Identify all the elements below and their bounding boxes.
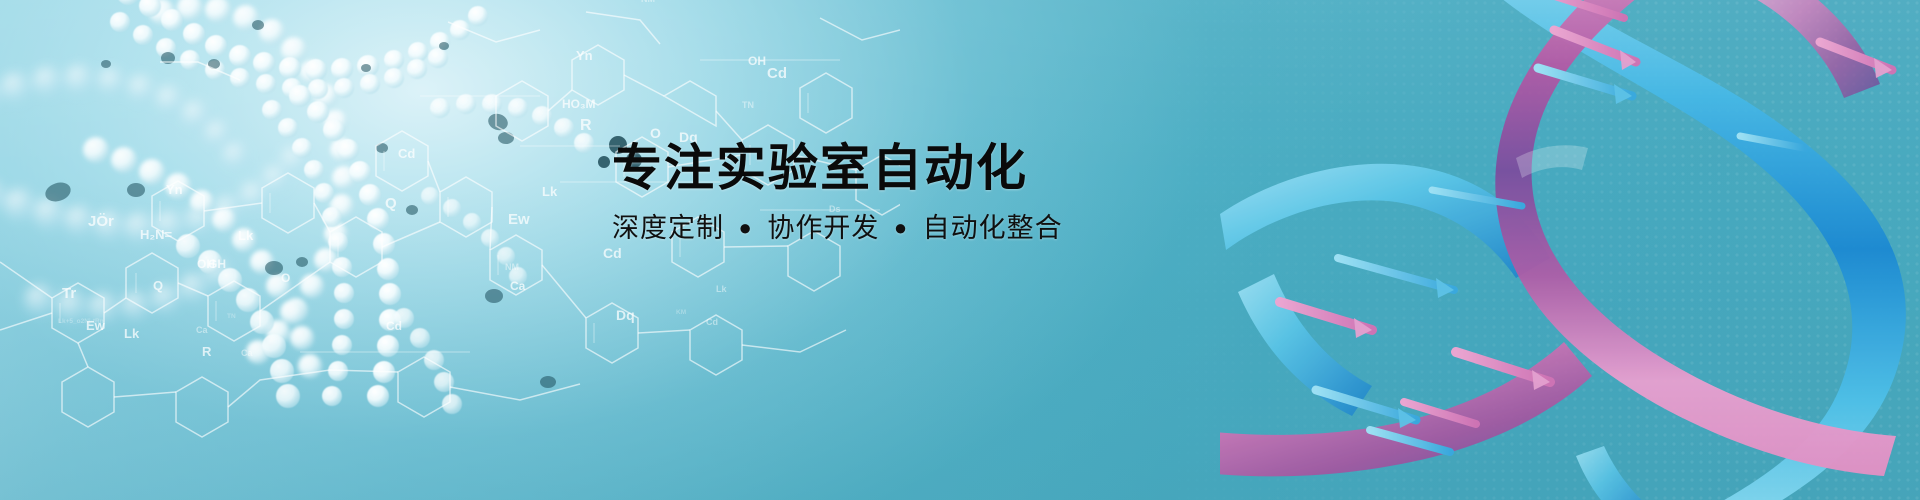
chem-label: OH: [197, 257, 215, 271]
chem-label: Cd: [603, 245, 622, 261]
chem-label: O: [281, 271, 290, 285]
chem-label: OH: [748, 54, 766, 68]
chem-label: Lk: [716, 284, 727, 294]
chem-label: Dq: [616, 307, 635, 323]
chem-label: Lk: [542, 184, 558, 199]
chem-label: NM: [505, 262, 519, 272]
chem-label: H₂N=: [140, 227, 173, 242]
chem-label: Lk+5_o2Nj-tRn: [58, 318, 104, 325]
subtitle-part-2: 协作开发: [767, 213, 879, 243]
chem-label: JÖr: [88, 213, 114, 230]
chem-label: HO₃M: [562, 97, 596, 111]
chemical-structure-overlay: TrLkLkJÖrH₂N=QGHCaEwCaYnYnCdCdCdCdCdCaCd…: [0, 0, 900, 500]
chem-label: Cd: [398, 146, 415, 161]
chem-label: Yn: [576, 48, 593, 63]
chem-label: R: [202, 344, 212, 359]
chem-label: Ca: [510, 279, 526, 293]
banner-headline: 专注实验室自动化: [612, 140, 1252, 196]
chem-label: Yn: [166, 182, 183, 197]
bullet-separator-icon: ●: [733, 215, 759, 240]
chem-label: Ca: [241, 348, 253, 358]
chem-label: TN: [227, 313, 236, 320]
chem-label: Cd: [767, 65, 787, 82]
chem-label: Ca: [196, 325, 208, 335]
banner-subtitle: 深度定制 ● 协作开发 ● 自动化整合: [612, 212, 1252, 244]
chem-label: O: [650, 125, 661, 141]
chem-label: Cd: [386, 319, 402, 333]
chem-label: R: [580, 117, 592, 134]
chem-label: TN: [742, 100, 754, 110]
banner-text-block: 专注实验室自动化 深度定制 ● 协作开发 ● 自动化整合: [612, 140, 1252, 244]
chem-label: Lk: [238, 228, 254, 243]
chem-label: Ew: [508, 211, 530, 228]
chem-label: NM: [641, 0, 655, 4]
chem-label: Lk: [124, 326, 140, 341]
chem-label: Q: [385, 195, 397, 212]
ribbon-dna-helix-art: [1220, 0, 1920, 500]
subtitle-part-3: 自动化整合: [923, 213, 1063, 243]
bullet-separator-icon-2: ●: [888, 215, 914, 240]
hero-banner: TrLkLkJÖrH₂N=QGHCaEwCaYnYnCdCdCdCdCdCaCd…: [0, 0, 1920, 500]
chem-label: Tr: [62, 285, 76, 302]
chem-label: KM: [676, 309, 686, 316]
chem-label: Cd: [706, 317, 718, 327]
subtitle-part-1: 深度定制: [612, 213, 724, 243]
chem-label: Q: [153, 278, 163, 293]
